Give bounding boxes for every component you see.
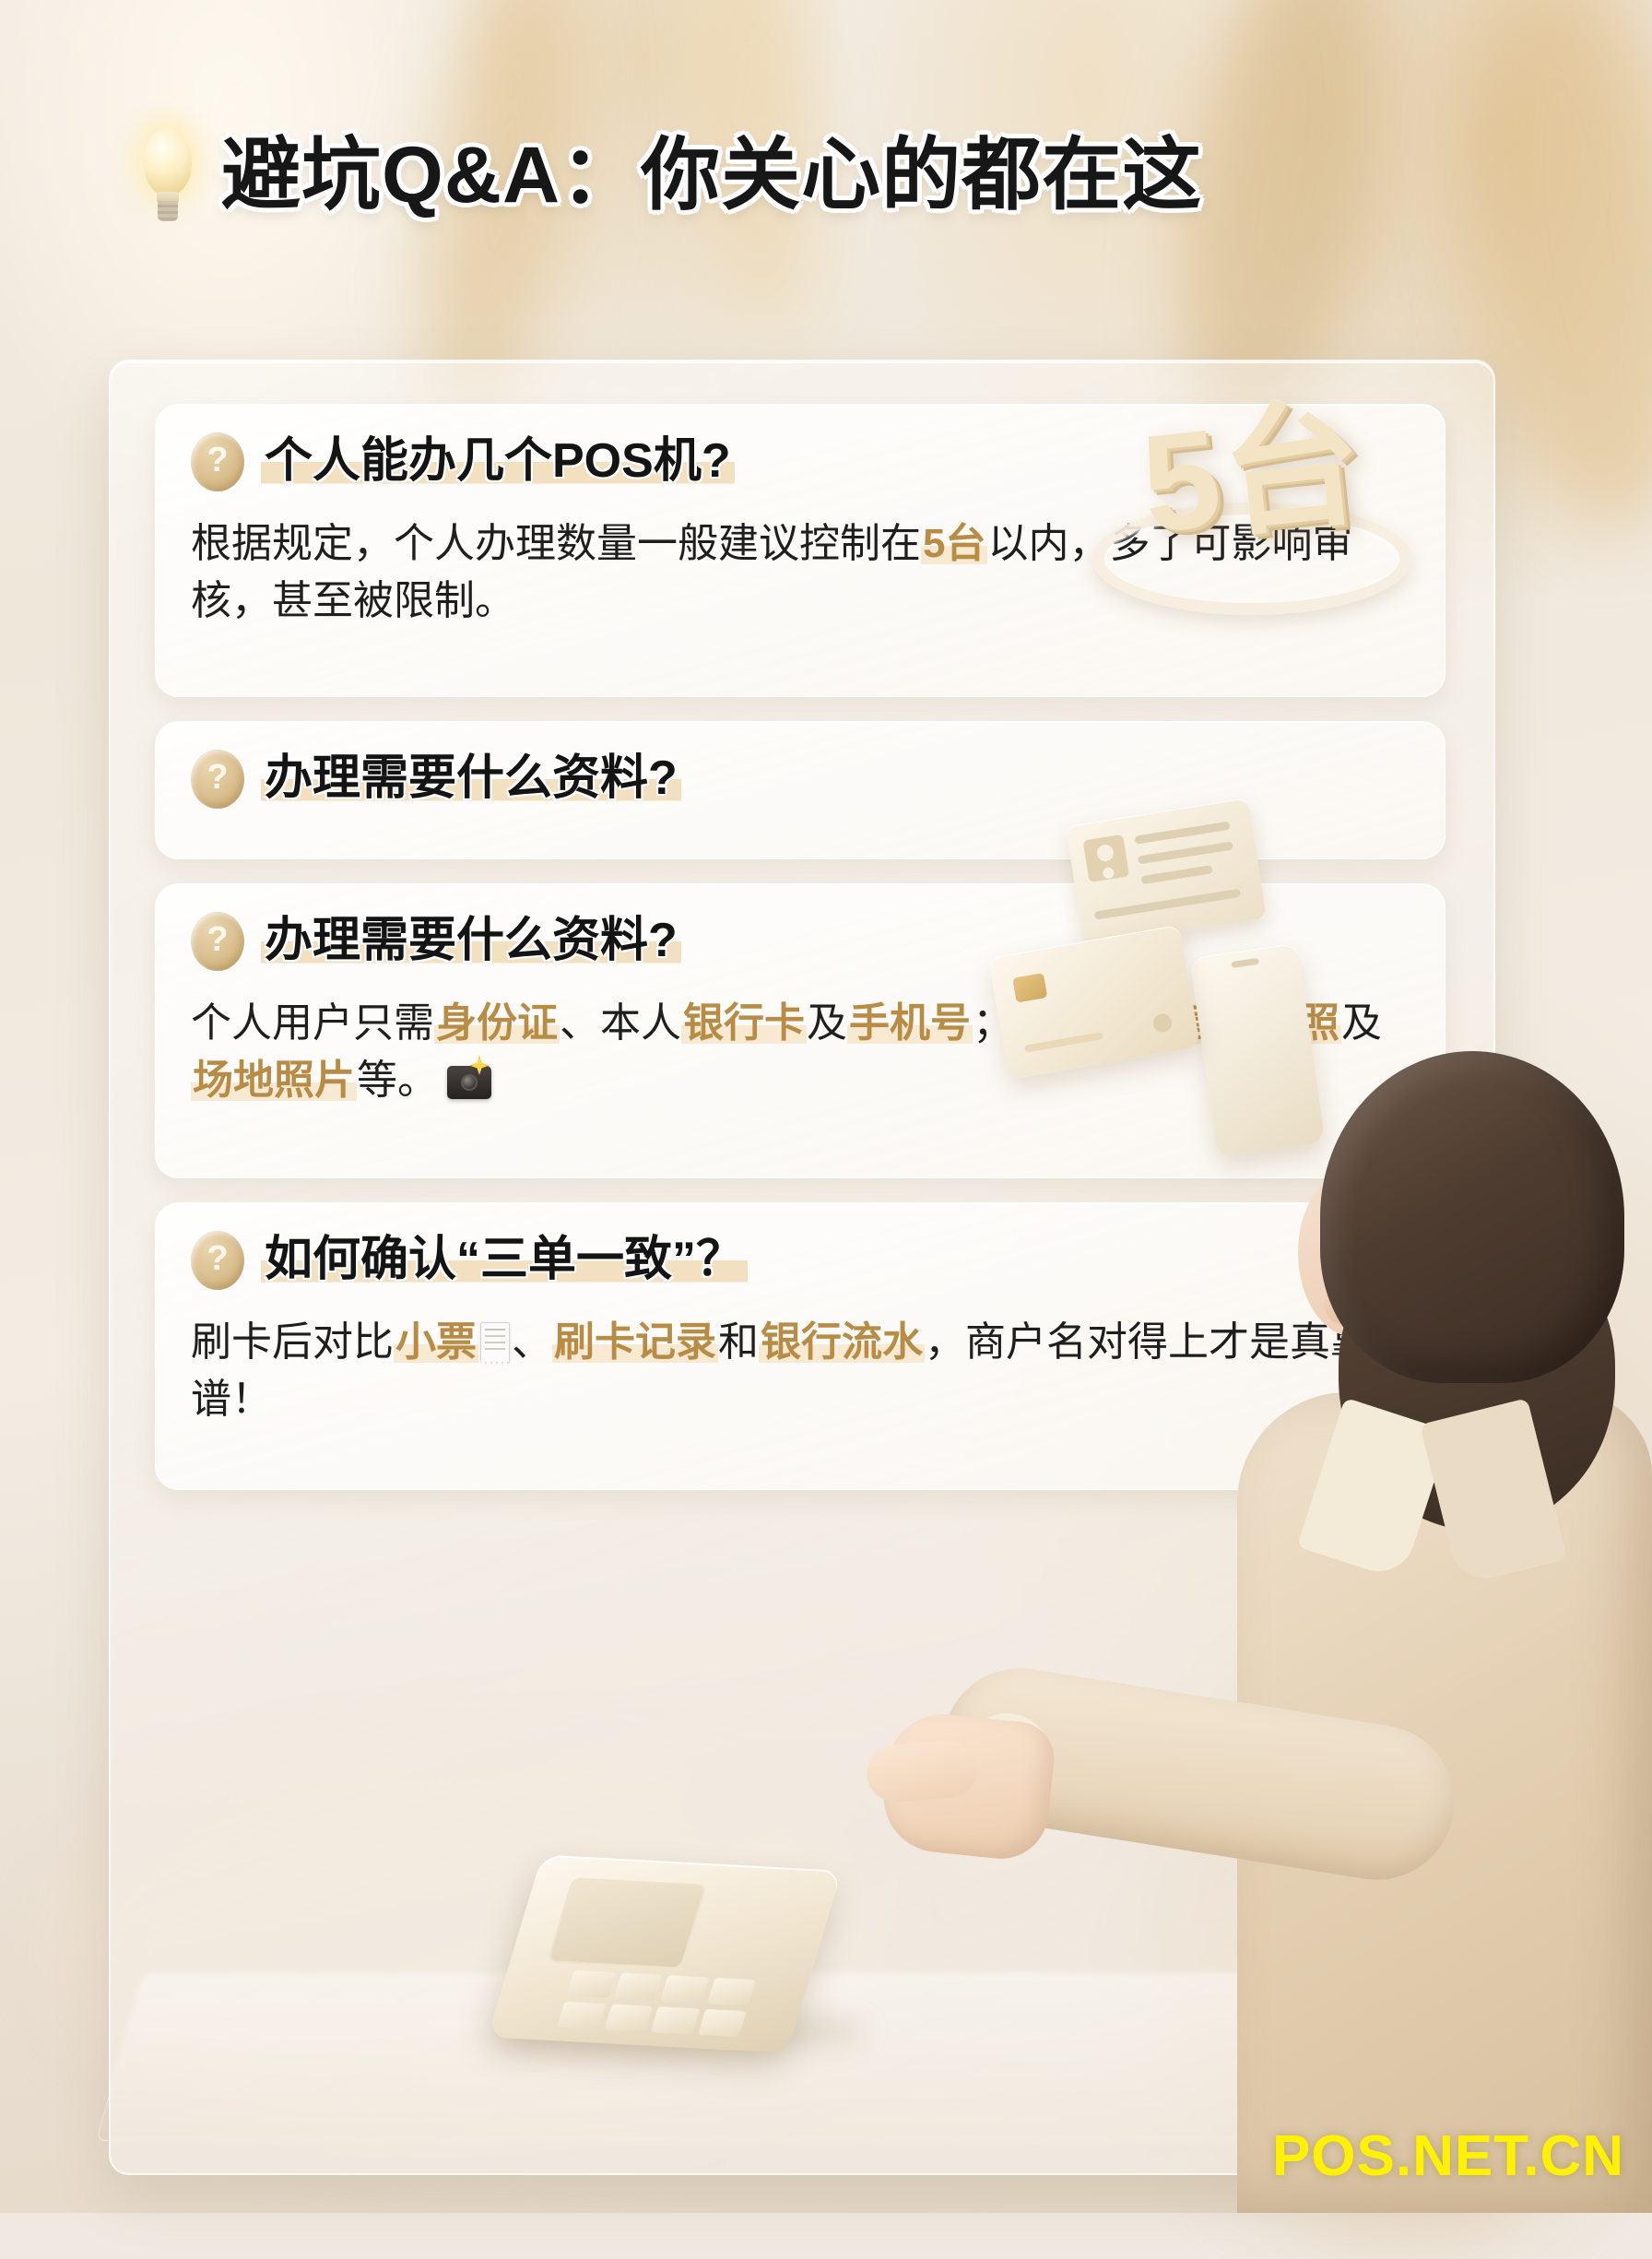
answer-highlight: 刷卡记录 (552, 1319, 718, 1365)
watermark: POS.NET.CN (1272, 2123, 1624, 2189)
faq-question-row: ? 办理需要什么资料? (191, 750, 1408, 809)
answer-highlight: 5台 (921, 521, 987, 566)
answer-fragment: 个人用户只需 (191, 1000, 434, 1046)
question-mark-icon: ? (191, 912, 244, 971)
faq-question-text: 个人能办几个POS机? (261, 434, 735, 488)
answer-fragment: 、 (512, 1319, 552, 1365)
answer-fragment: 及 (807, 1000, 847, 1046)
answer-highlight: 银行卡 (681, 1000, 807, 1046)
receipt-icon (480, 1322, 510, 1363)
answer-highlight: 身份证 (434, 1000, 560, 1046)
answer-fragment: 刷卡后对比 (191, 1319, 394, 1365)
faq-question-text: 办理需要什么资料? (261, 751, 681, 805)
answer-fragment: 根据规定，个人办理数量一般建议控制在 (191, 521, 921, 566)
answer-fragment: 和 (718, 1319, 759, 1365)
answer-highlight: 小票 (394, 1319, 478, 1365)
faq-question-text: 如何确认“三单一致”？ (261, 1233, 748, 1286)
decor-ring (1092, 503, 1411, 615)
answer-fragment: 、本人 (560, 1000, 681, 1046)
faq-question-row: ? 如何确认“三单一致”？ (191, 1231, 1408, 1290)
camera-icon (447, 1066, 491, 1099)
faq-answer-text: 刷卡后对比小票、刷卡记录和银行流水，商户名对得上才是真靠谱！ (191, 1314, 1408, 1429)
answer-highlight: 手机号 (847, 1000, 973, 1046)
question-mark-icon: ? (191, 432, 244, 491)
answer-fragment: 及 (1341, 1000, 1382, 1046)
question-mark-icon: ? (191, 1231, 244, 1290)
lightbulb-icon (138, 127, 197, 223)
faq-card[interactable]: ? 如何确认“三单一致”？ 刷卡后对比小票、刷卡记录和银行流水，商户名对得上才是… (155, 1202, 1445, 1490)
pos-terminal-screen (547, 1877, 707, 1969)
faq-question-row: ? 个人能办几个POS机? (191, 432, 1408, 491)
faq-question-text: 办理需要什么资料? (261, 914, 681, 967)
page-header: 避坑Q&A：你关心的都在这 (0, 111, 1652, 240)
answer-highlight: 银行流水 (759, 1319, 925, 1365)
question-mark-icon: ? (191, 750, 244, 809)
answer-highlight: 场地照片 (191, 1058, 357, 1103)
pos-terminal-keypad (557, 1970, 756, 2037)
answer-fragment: 等。 (357, 1058, 438, 1103)
page-title: 避坑Q&A：你关心的都在这 (221, 136, 1202, 215)
